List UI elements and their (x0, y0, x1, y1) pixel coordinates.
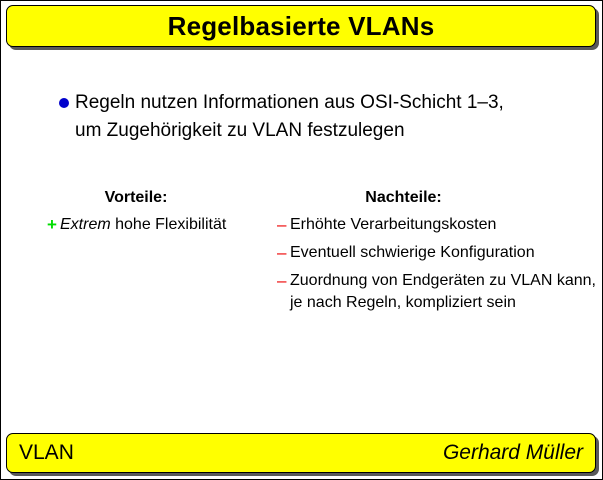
blue-bullet-dot-icon (59, 98, 69, 108)
pros-item-emphasis: Extrem (60, 216, 111, 233)
lead-bullet-text: Regeln nutzen Informationen aus OSI-Schi… (75, 89, 504, 145)
page-title: Regelbasierte VLANs (168, 11, 435, 42)
slide-title-bar: Regelbasierte VLANs (6, 5, 596, 47)
lead-line-1: Regeln nutzen Informationen aus OSI-Schi… (75, 92, 504, 113)
slide-body: Regeln nutzen Informationen aus OSI-Schi… (1, 51, 603, 431)
lead-line-2: um Zugehörigkeit zu VLAN festzulegen (75, 120, 405, 141)
minus-marker-icon: – (277, 270, 290, 292)
list-item: – Erhöhte Verarbeitungskosten (277, 214, 603, 236)
pros-item-rest: hohe Flexibilität (111, 216, 227, 233)
pros-cons-columns: Vorteile: + Extrem hohe Flexibilität Nac… (1, 189, 603, 320)
slide: Regelbasierte VLANs Regeln nutzen Inform… (0, 0, 603, 480)
cons-item-text: Zuordnung von Endgeräten zu VLAN kann, j… (290, 270, 603, 314)
cons-item-text: Erhöhte Verarbeitungskosten (290, 214, 496, 236)
list-item: – Zuordnung von Endgeräten zu VLAN kann,… (277, 270, 603, 314)
cons-item-text: Eventuell schwierige Konfiguration (290, 242, 535, 264)
footer-topic-label: VLAN (19, 441, 74, 465)
minus-marker-icon: – (277, 242, 290, 264)
lead-bullet-item: Regeln nutzen Informationen aus OSI-Schi… (59, 89, 559, 145)
cons-column: Nachteile: – Erhöhte Verarbeitungskosten… (269, 189, 603, 320)
minus-marker-icon: – (277, 214, 290, 236)
pros-item-text: Extrem hohe Flexibilität (60, 214, 226, 236)
slide-footer-bar: VLAN Gerhard Müller (6, 433, 596, 473)
pros-heading: Vorteile: (47, 189, 269, 207)
footer-author-label: Gerhard Müller (443, 441, 583, 465)
plus-marker-icon: + (47, 214, 60, 236)
list-item: – Eventuell schwierige Konfiguration (277, 242, 603, 264)
pros-column: Vorteile: + Extrem hohe Flexibilität (1, 189, 269, 320)
list-item: + Extrem hohe Flexibilität (47, 214, 269, 236)
cons-heading: Nachteile: (277, 189, 603, 207)
